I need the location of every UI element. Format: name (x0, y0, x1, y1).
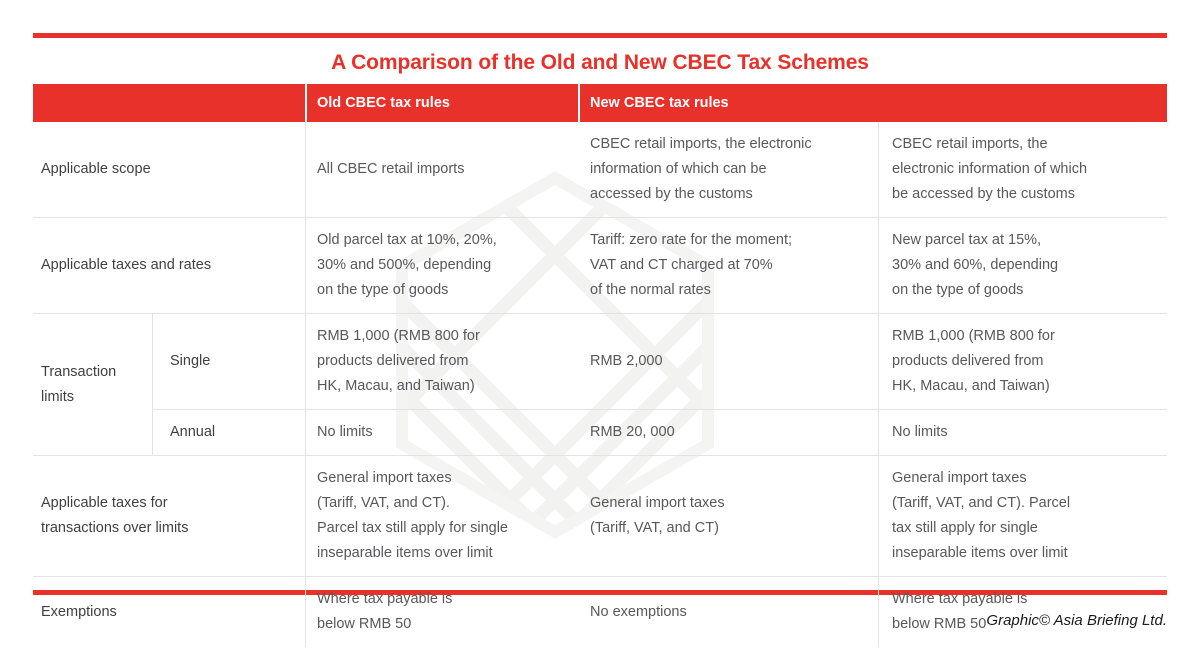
table-row: Single RMB 1,000 (RMB 800 for products d… (152, 314, 1167, 410)
table-row: Annual No limits RMB 20, 000 No limits (152, 410, 1167, 455)
cell-new-rules-a: Tariff: zero rate for the moment; VAT an… (578, 218, 880, 313)
cell-new-rules-a: No exemptions (578, 577, 880, 647)
cell-new-rules-a: RMB 2,000 (578, 314, 880, 409)
column-divider (305, 218, 306, 313)
cell-new-rules-a: CBEC retail imports, the electronic info… (578, 122, 880, 217)
credit-line: Graphic© Asia Briefing Ltd. (986, 612, 1167, 629)
cell-new-rules-a: General import taxes (Tariff, VAT, and C… (578, 456, 880, 576)
cell-old-rules: No limits (305, 410, 578, 455)
column-divider (305, 456, 306, 576)
column-divider (878, 456, 879, 576)
table-row: Applicable taxes for transactions over l… (33, 456, 1167, 577)
cell-old-rules: General import taxes (Tariff, VAT, and C… (305, 456, 578, 576)
row-label: Exemptions (33, 577, 305, 647)
header-cell-blank (33, 84, 305, 122)
comparison-table: Old CBEC tax rules New CBEC tax rules Ap… (33, 84, 1167, 647)
header-divider-1 (305, 84, 307, 122)
column-divider (305, 410, 306, 455)
header-cell-new-rules: New CBEC tax rules (578, 84, 1167, 122)
row-sublabel: Annual (152, 410, 305, 455)
table-row: Applicable taxes and rates Old parcel ta… (33, 218, 1167, 314)
table-header-row: Old CBEC tax rules New CBEC tax rules (33, 84, 1167, 122)
cell-old-rules: All CBEC retail imports (305, 122, 578, 217)
column-divider (878, 122, 879, 217)
column-divider (878, 218, 879, 313)
infographic-canvas: A Comparison of the Old and New CBEC Tax… (0, 0, 1200, 664)
column-divider (305, 577, 306, 647)
cell-new-rules-b: General import taxes (Tariff, VAT, and C… (880, 456, 1167, 576)
cell-old-rules: RMB 1,000 (RMB 800 for products delivere… (305, 314, 578, 409)
header-cell-old-rules: Old CBEC tax rules (305, 84, 578, 122)
row-label: Applicable taxes and rates (33, 218, 305, 313)
cell-old-rules: Old parcel tax at 10%, 20%, 30% and 500%… (305, 218, 578, 313)
column-divider (305, 122, 306, 217)
column-divider (305, 314, 306, 409)
row-label: Applicable taxes for transactions over l… (33, 456, 305, 576)
cell-new-rules-a: RMB 20, 000 (578, 410, 880, 455)
table-row: Applicable scope All CBEC retail imports… (33, 122, 1167, 218)
row-sublabel: Single (152, 314, 305, 409)
group-label-divider (152, 314, 153, 455)
top-red-rule (33, 33, 1167, 38)
page-title: A Comparison of the Old and New CBEC Tax… (33, 42, 1167, 84)
table-row-group-transaction-limits: Transaction limits Single RMB 1,000 (RMB… (33, 314, 1167, 456)
cell-new-rules-b: CBEC retail imports, the electronic info… (880, 122, 1167, 217)
column-divider (878, 577, 879, 647)
column-divider (878, 314, 879, 409)
header-divider-2 (578, 84, 580, 122)
cell-new-rules-b: RMB 1,000 (RMB 800 for products delivere… (880, 314, 1167, 409)
row-label: Transaction limits (33, 314, 152, 455)
column-divider (878, 410, 879, 455)
cell-old-rules: Where tax payable is below RMB 50 (305, 577, 578, 647)
row-label: Applicable scope (33, 122, 305, 217)
cell-new-rules-b: No limits (880, 410, 1167, 455)
cell-new-rules-b: New parcel tax at 15%, 30% and 60%, depe… (880, 218, 1167, 313)
transaction-limits-subrows: Single RMB 1,000 (RMB 800 for products d… (152, 314, 1167, 455)
